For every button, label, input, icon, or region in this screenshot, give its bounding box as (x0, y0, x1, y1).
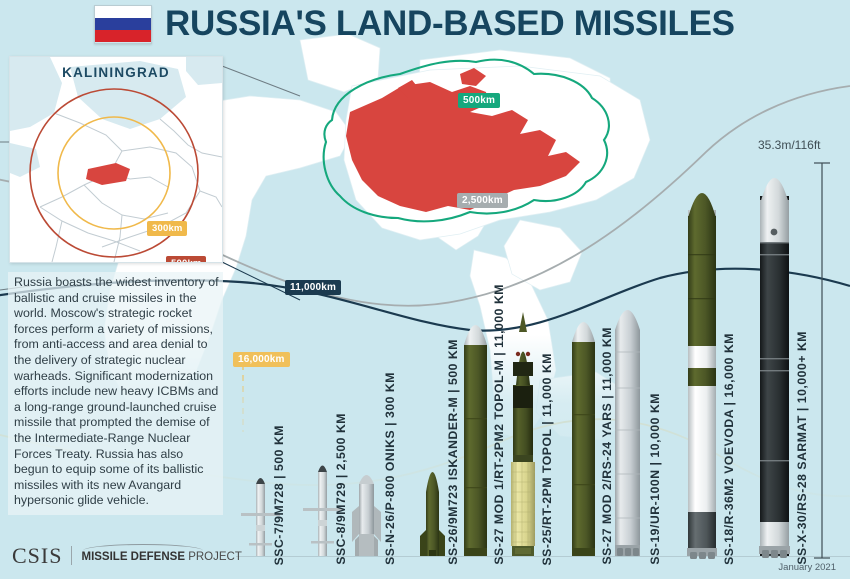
swoosh-icon (83, 544, 203, 552)
missile-ss-n-26-p800-oniks (352, 475, 381, 556)
publication-date: January 2021 (778, 562, 836, 573)
scale-bar (814, 163, 830, 558)
missile-ss-27-mod2-rs24-yars (572, 322, 595, 556)
missile-label-ss-x-30-sarmat: SS-X-30/RS-28 SARMAT | 10,000+ KM (795, 331, 809, 565)
mdp-light: PROJECT (185, 551, 242, 563)
missile-ss-18-r36m2-voevoda (687, 193, 717, 559)
missile-label-ssc-7-9m728: SSC-7/9M728 | 500 KM (272, 425, 286, 565)
missile-label-ss-27-mod1-topol-m: SS-27 MOD 1/RT-2PM2 TOPOL-M | 11,000 KM (492, 284, 506, 565)
missile-label-ss-n-26-p800-oniks: SS-N-26/P-800 ONIKS | 300 KM (383, 372, 397, 565)
missile-label-ss-27-mod2-rs24-yars: SS-27 MOD 2/RS-24 YARS | 11,000 KM (600, 327, 614, 565)
missile-label-ssc-8-9m729: SSC-8/9M729 | 2,500 KM (334, 413, 348, 565)
csis-wordmark: CSIS (12, 545, 62, 567)
csis-logo: CSIS MISSILE DEFENSE PROJECT (12, 545, 242, 567)
missile-defense-project-wordmark: MISSILE DEFENSE PROJECT (81, 551, 241, 564)
missile-ss-26-9m723-iskander-m (420, 472, 445, 556)
missile-ss-27-mod1-topol-m (464, 325, 487, 556)
missile-label-ss-19-ur-100n: SS-19/UR-100N | 10,000 KM (648, 393, 662, 565)
missile-ss-25-topol (511, 312, 535, 556)
missile-label-ss-18-voevoda: SS-18/R-36M2 VOEVODA | 16,000 KM (722, 333, 736, 565)
missile-label-ss-25-topol: SS-25/RT-2PM TOPOL | 11,000 KM (540, 353, 554, 566)
missile-ss-x-30-rs28-sarmat (759, 178, 790, 558)
missile-ss-19-ur-100n (615, 310, 640, 556)
mdp-bold: MISSILE DEFENSE (81, 551, 185, 563)
missile-label-ss-26-iskander-m: SS-26/9M723 ISKANDER-M | 500 KM (446, 339, 460, 565)
logo-divider (71, 546, 72, 565)
